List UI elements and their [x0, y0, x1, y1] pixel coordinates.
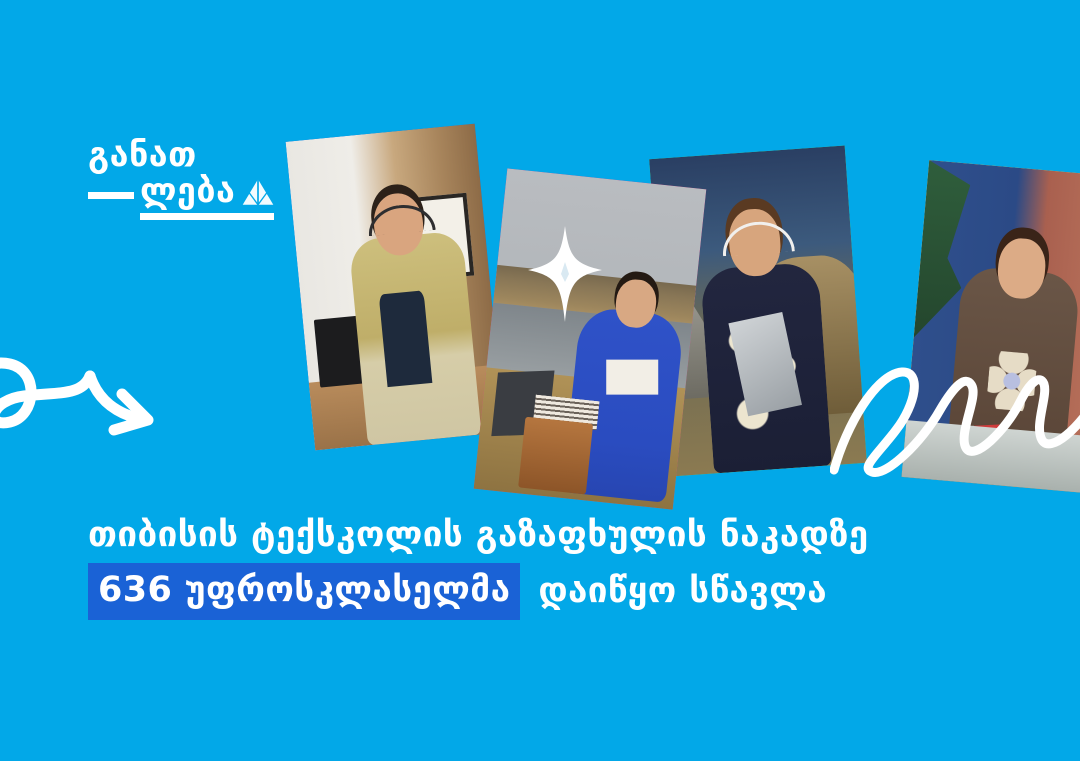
headline-line-2: 636 უფროსკლასელმა დაიწყო სწავლა — [88, 563, 1008, 620]
photo-card-pink[interactable] — [474, 168, 707, 509]
photo-thumbnail-1 — [286, 124, 505, 451]
photo-thumbnail-2 — [474, 168, 707, 509]
photo-card-collage — [0, 0, 1080, 761]
headline-line-2-rest: დაიწყო სწავლა — [520, 568, 827, 615]
headline: თიბისის ტექსკოლის გაზაფხულის ნაკადზე 636… — [88, 512, 1008, 620]
headline-highlight: 636 უფროსკლასელმა — [88, 563, 520, 620]
poster-canvas: განათ ლება — [0, 0, 1080, 761]
photo-thumbnail-4 — [902, 160, 1080, 494]
photo-card-blue[interactable] — [286, 124, 505, 451]
headline-line-1: თიბისის ტექსკოლის გაზაფხულის ნაკადზე — [88, 512, 1008, 559]
photo-card-yellow[interactable] — [902, 160, 1080, 494]
